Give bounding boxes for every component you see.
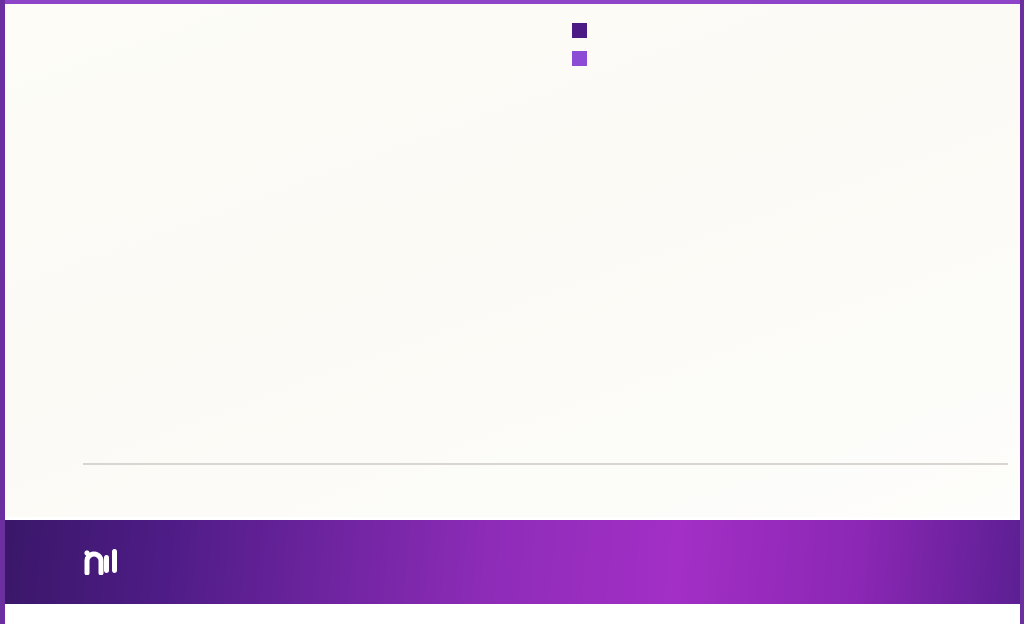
chart-panel: [5, 4, 1020, 517]
footer-bottom-strip: [5, 604, 1020, 624]
legend-swatch-icon: [572, 23, 587, 38]
legend-item-accessories[interactable]: [572, 44, 596, 72]
x-axis-line: [83, 463, 1008, 465]
bars-container: [83, 111, 1008, 463]
y-axis: [5, 111, 73, 463]
legend-item-camera[interactable]: [572, 16, 596, 44]
market-us-logo[interactable]: [83, 545, 133, 580]
chart-legend: [572, 16, 596, 72]
frame-border-right: [1020, 0, 1024, 624]
footer-banner: [5, 520, 1020, 604]
x-axis-labels: [83, 474, 1008, 504]
bar-chart-logo-icon: [83, 545, 125, 580]
legend-swatch-icon: [572, 51, 587, 66]
infographic-root: [0, 0, 1024, 624]
